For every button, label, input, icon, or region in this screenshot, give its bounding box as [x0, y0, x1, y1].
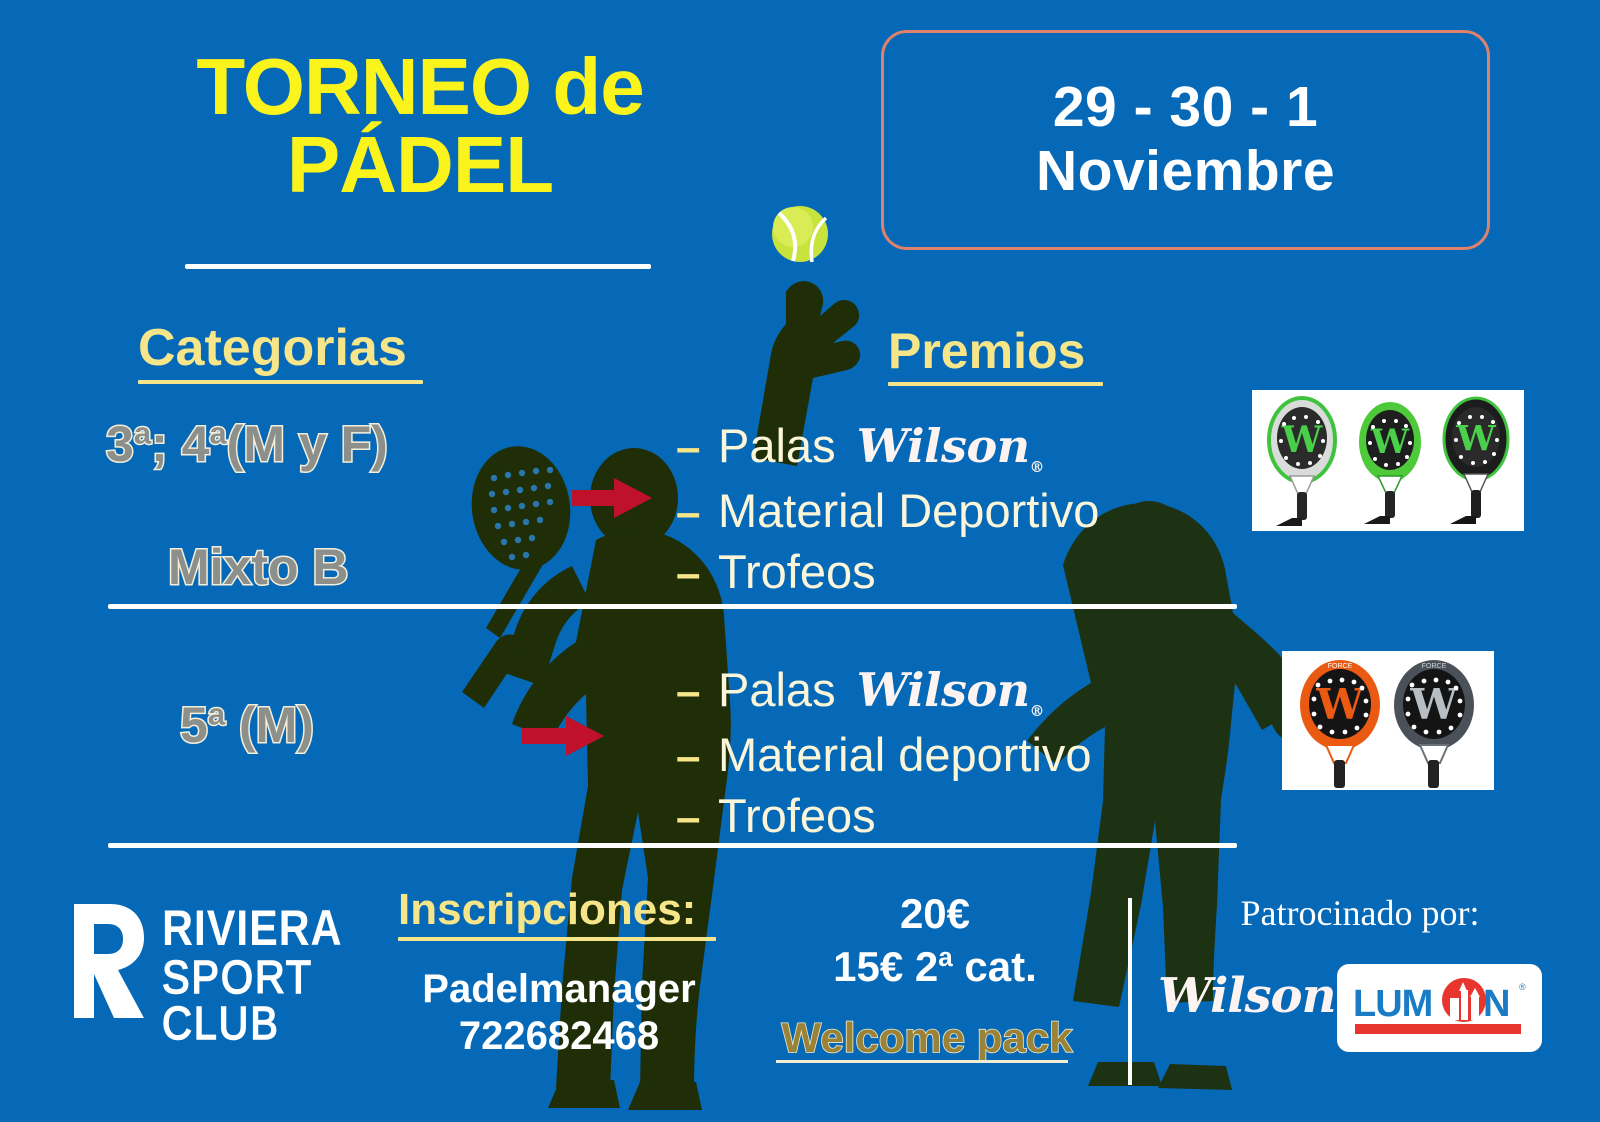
title-line-1: TORNEO de	[196, 42, 643, 131]
registration-heading: Inscripciones:	[398, 885, 716, 941]
lumon-logo-icon: LUM N ®	[1347, 972, 1533, 1044]
red-arrow-icon	[572, 478, 652, 518]
prize-dash: –	[676, 793, 718, 843]
registration-heading-underline	[398, 937, 716, 941]
date-line-1: 29 - 30 - 1	[1053, 76, 1318, 140]
prize-row: – Palas Wilson®	[676, 662, 1092, 721]
page-title: TORNEO de PÁDEL	[140, 48, 700, 205]
riviera-wordmark: RIVIERA SPORT CLUB	[162, 904, 400, 1046]
cat1-sup: a	[134, 415, 151, 450]
red-arrow-icon	[522, 716, 604, 756]
prize-row: – Material deportivo	[676, 727, 1092, 782]
green-rackets-illustration: W W	[1252, 390, 1524, 531]
registration-phone[interactable]: 722682468	[404, 1013, 714, 1060]
title-underline-rule	[185, 264, 651, 269]
prize-text: Material Deportivo	[718, 483, 1099, 538]
cat1-tail: (M y F)	[227, 416, 388, 472]
cat1-base: 3	[106, 416, 134, 472]
prize-text: Palas Wilson®	[718, 418, 1044, 477]
categories-heading: Categorias	[138, 318, 423, 384]
riviera-r-monogram-icon	[70, 902, 148, 1020]
price-info: 20€ 15€ 2a cat.	[770, 888, 1100, 993]
sponsor-wilson-logo: Wilson®	[1158, 968, 1338, 1027]
prize-label: Palas	[718, 663, 849, 716]
cat3-sup: a	[208, 696, 225, 731]
prizes-heading-text: Premios	[888, 323, 1085, 379]
title-line-2: PÁDEL	[140, 126, 700, 204]
svg-text:N: N	[1483, 983, 1510, 1025]
cat3-tail: (M)	[225, 697, 314, 753]
date-line-2: Noviembre	[1036, 140, 1335, 204]
registration-platform: Padelmanager	[404, 966, 714, 1013]
svg-text:®: ®	[1519, 982, 1526, 992]
prize-dash: –	[676, 488, 718, 538]
svg-text:LUM: LUM	[1353, 983, 1432, 1025]
prize-row: – Palas Wilson®	[676, 418, 1099, 477]
prize-text: Material deportivo	[718, 727, 1092, 782]
prize-text: Trofeos	[718, 544, 876, 599]
svg-text:W: W	[1281, 419, 1323, 461]
category-item-2: Mixto B	[168, 538, 349, 596]
wilson-word: Wilson	[857, 419, 1030, 473]
prize-text: Palas Wilson®	[718, 662, 1044, 721]
prize-row: – Material Deportivo	[676, 483, 1099, 538]
price2-pre: 15€ 2	[833, 943, 938, 990]
prize-list-block-2: – Palas Wilson® – Material deportivo – T…	[676, 662, 1092, 849]
welcome-pack-underline	[776, 1060, 1068, 1063]
prize-dash: –	[676, 423, 718, 473]
sponsors-heading: Patrocinado por:	[1160, 892, 1560, 934]
cat1-sup2: a	[209, 415, 226, 450]
welcome-pack-label: Welcome pack	[762, 1014, 1092, 1062]
categories-heading-text: Categorias	[138, 319, 407, 377]
prize-dash: –	[676, 549, 718, 599]
prize-text: Trofeos	[718, 788, 876, 843]
cat3-base: 5	[180, 697, 208, 753]
prize-label: Palas	[718, 419, 849, 472]
section-divider-2	[108, 843, 1237, 848]
racket-photo-orange: W FORCE W	[1282, 651, 1494, 790]
prize-dash: –	[676, 732, 718, 782]
price-standard: 20€	[770, 888, 1100, 941]
riviera-name-line1: RIVIERA	[162, 904, 367, 952]
wilson-registered-mark: ®	[1030, 703, 1044, 720]
price2-post: cat.	[953, 943, 1037, 990]
prize-dash: –	[676, 667, 718, 717]
prizes-heading-underline	[888, 382, 1103, 386]
registration-contact: Padelmanager 722682468	[404, 966, 714, 1060]
racket-strings-left	[489, 467, 553, 560]
date-box: 29 - 30 - 1 Noviembre	[881, 30, 1490, 250]
price2-sup: a	[938, 942, 952, 972]
orange-rackets-illustration: W FORCE W	[1282, 651, 1494, 790]
svg-text:W: W	[1455, 418, 1496, 459]
riviera-name-line2: SPORT CLUB	[162, 954, 376, 1046]
price-second-category: 15€ 2a cat.	[770, 941, 1100, 994]
prize-row: – Trofeos	[676, 788, 1092, 843]
racket-photo-green: W W	[1252, 390, 1524, 531]
prize-row: – Trofeos	[676, 544, 1099, 599]
sponsor-vertical-divider	[1128, 898, 1132, 1085]
prizes-heading: Premios	[888, 322, 1103, 386]
category-item-1: 3a; 4a(M y F)	[106, 415, 388, 473]
svg-text:W: W	[1409, 680, 1458, 729]
svg-text:W: W	[1370, 422, 1410, 462]
wilson-brand-text: Wilson®	[857, 419, 1044, 473]
categories-heading-underline	[138, 380, 423, 384]
svg-text:W: W	[1315, 680, 1364, 729]
sponsor-wilson-word: Wilson	[1158, 968, 1335, 1024]
svg-text:FORCE: FORCE	[1422, 663, 1447, 670]
sponsor-lumon-logo: LUM N ®	[1337, 964, 1542, 1052]
category-item-3: 5a (M)	[180, 696, 314, 754]
riviera-club-logo: RIVIERA SPORT CLUB	[70, 898, 400, 1028]
wilson-word: Wilson	[857, 663, 1030, 717]
section-divider-1	[108, 604, 1237, 609]
poster: TORNEO de PÁDEL 29 - 30 - 1 Noviembre Ca…	[0, 0, 1600, 1122]
cat1-mid: ; 4	[151, 416, 209, 472]
wilson-brand-text: Wilson®	[857, 663, 1044, 717]
wilson-registered-mark: ®	[1030, 459, 1044, 476]
tennis-ball-icon	[772, 206, 828, 262]
svg-text:FORCE: FORCE	[1328, 663, 1353, 670]
registration-heading-text: Inscripciones:	[398, 885, 696, 934]
prize-list-block-1: – Palas Wilson® – Material Deportivo – T…	[676, 418, 1099, 605]
